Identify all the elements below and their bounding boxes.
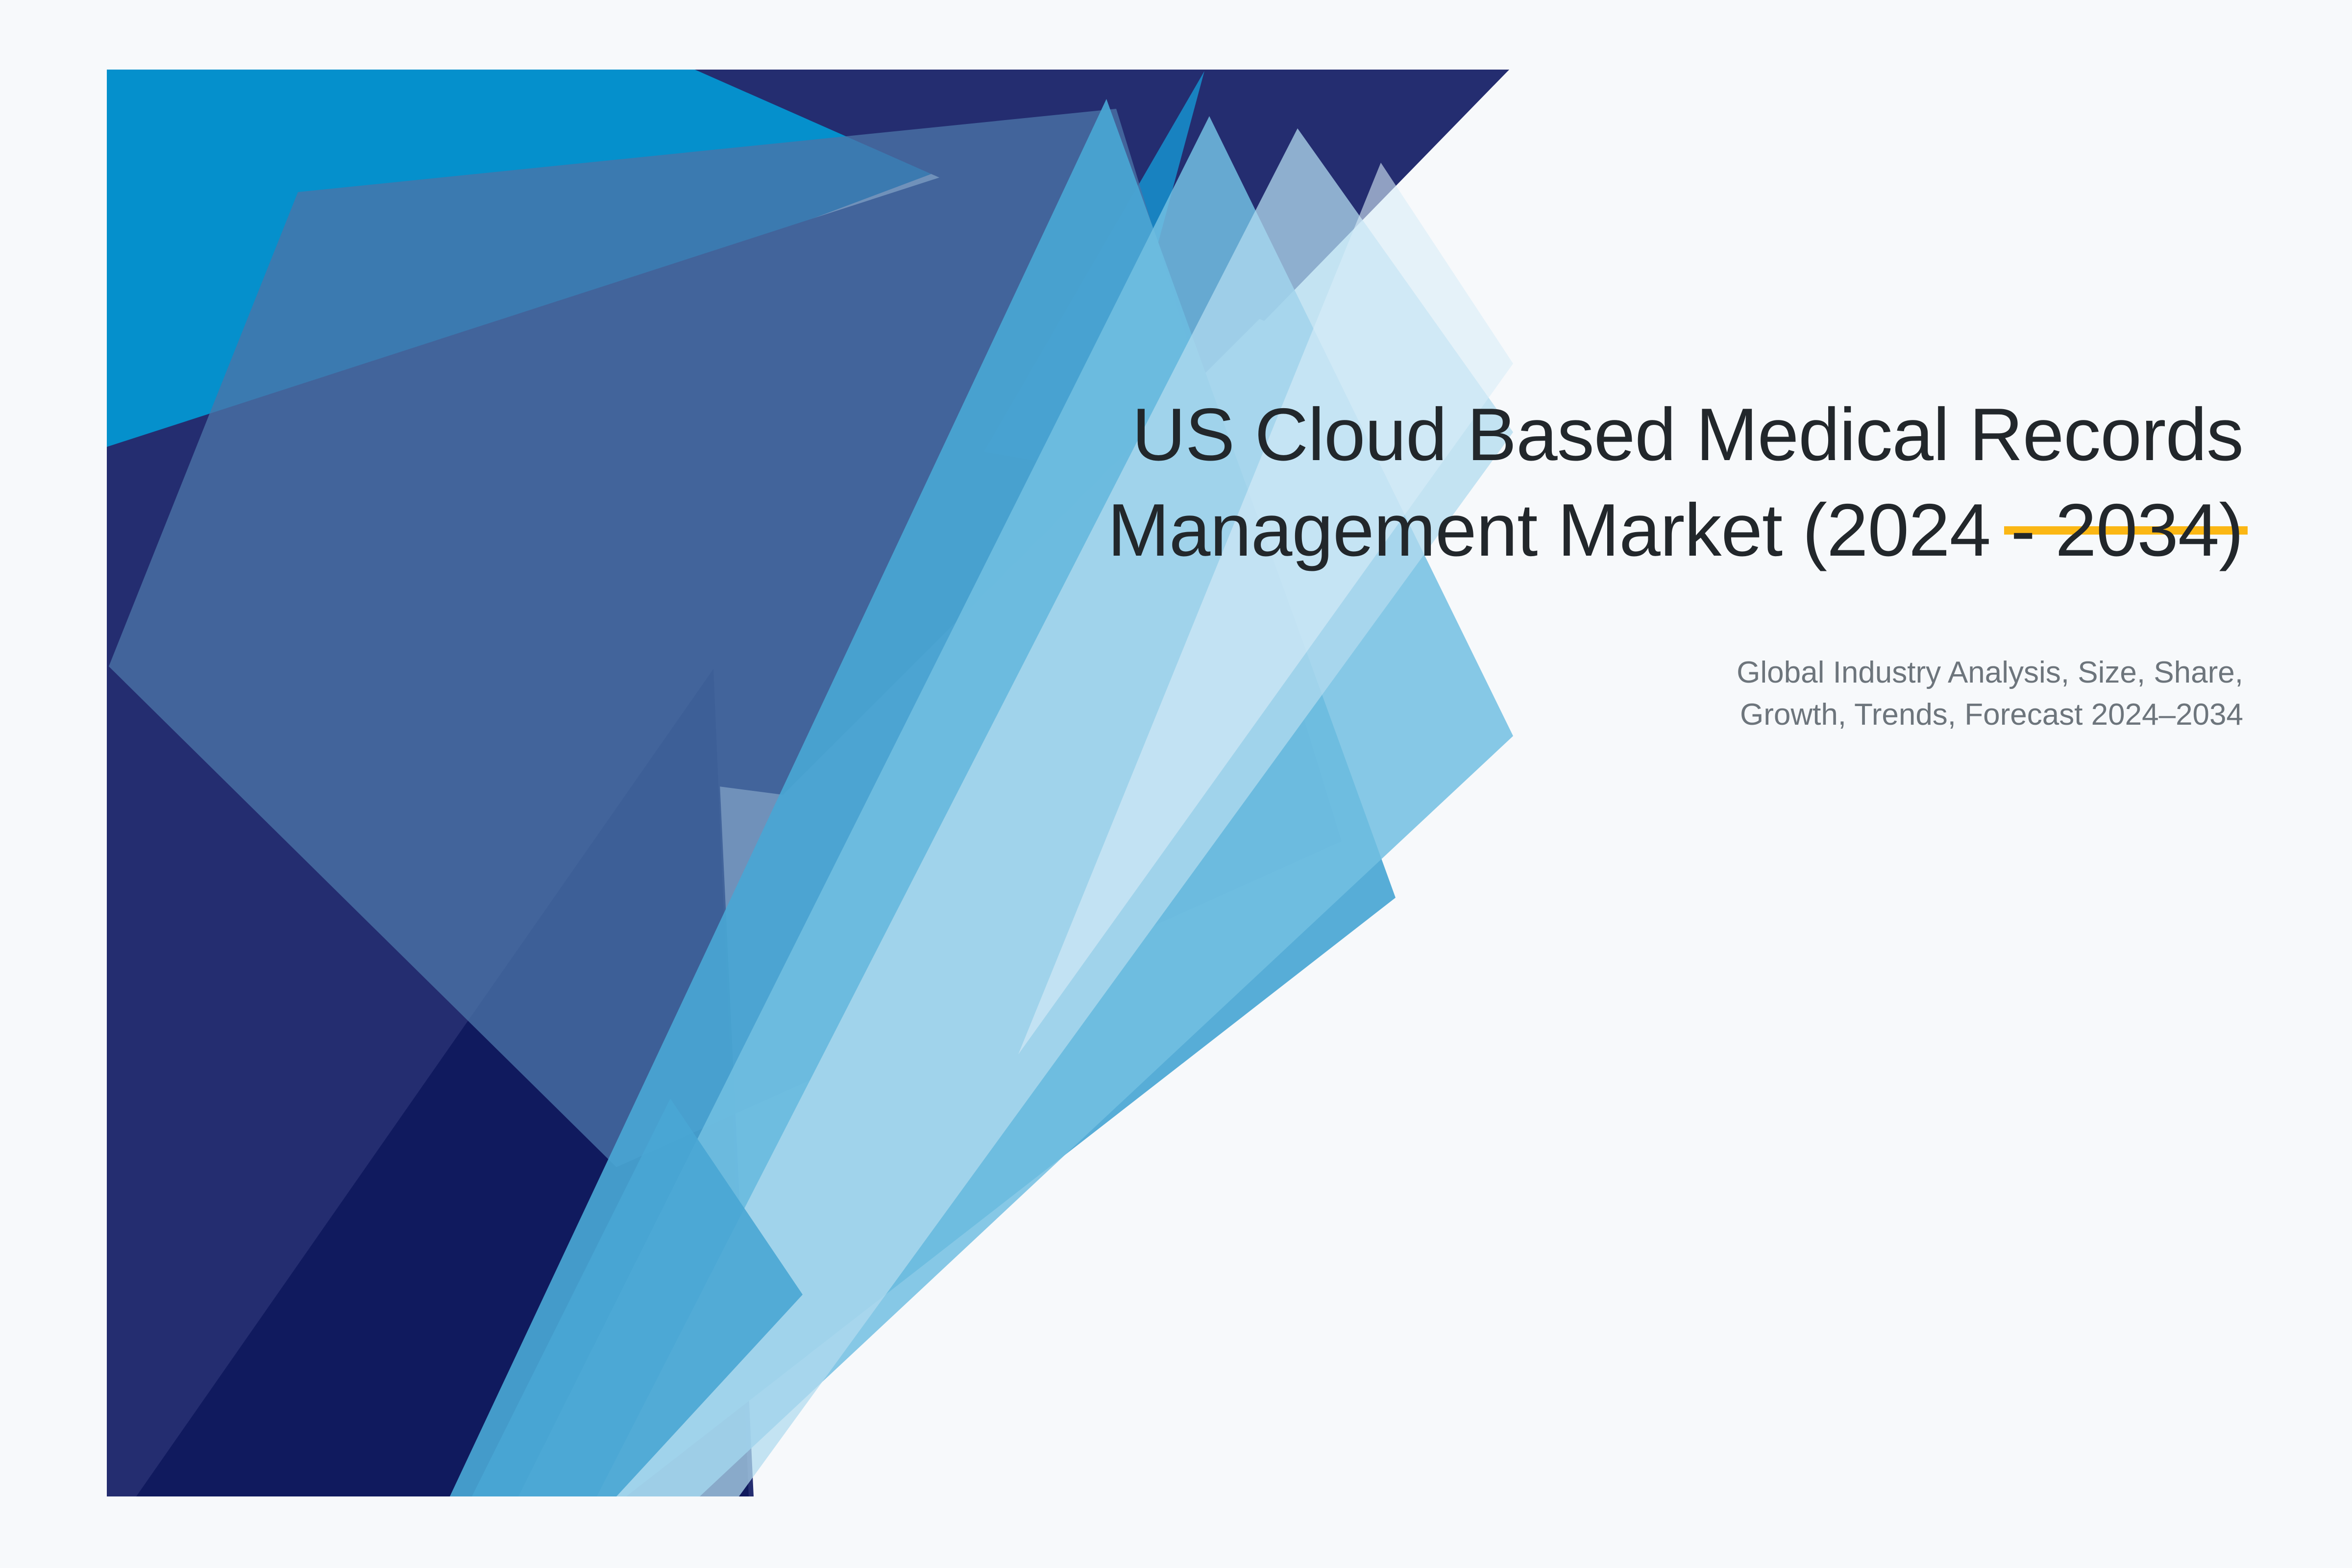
title-block: US Cloud Based Medical Records Managemen… [735,387,2243,578]
artwork-svg [107,70,1513,1496]
page-title: US Cloud Based Medical Records Managemen… [735,387,2243,578]
report-cover-page: US Cloud Based Medical Records Managemen… [0,0,2352,1568]
subtitle-block: Global Industry Analysis, Size, Share, G… [1225,652,2243,735]
abstract-polygon-graphic [107,70,1513,1496]
page-subtitle: Global Industry Analysis, Size, Share, G… [1225,652,2243,735]
